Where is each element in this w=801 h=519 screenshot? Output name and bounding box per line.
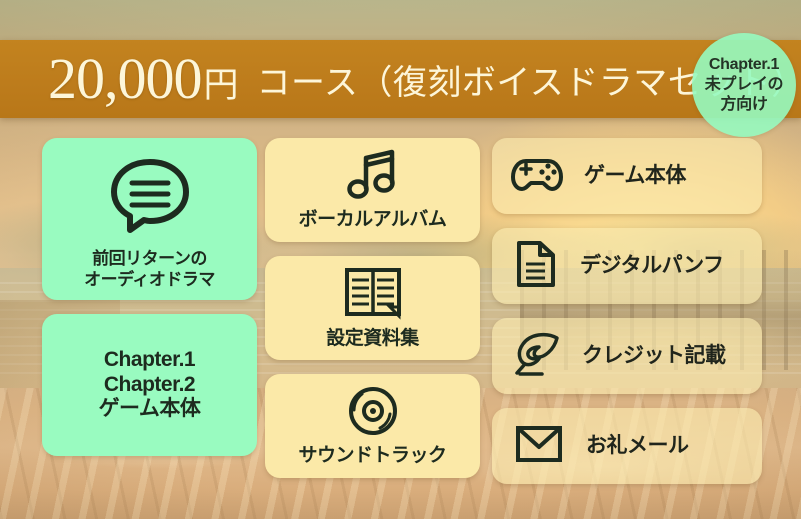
- reward-label: サウンドトラック: [298, 445, 446, 467]
- reward-label-line-2: オーディオドラマ: [84, 270, 215, 290]
- spacer: [42, 300, 257, 314]
- reward-label: ゲーム本体: [584, 164, 686, 189]
- reward-card-thank-you-mail[interactable]: お礼メール: [492, 408, 762, 484]
- compact-disc-icon: [345, 384, 401, 443]
- envelope-icon: [514, 423, 564, 470]
- badge-line-3: 方向け: [720, 95, 767, 115]
- reward-label: 設定資料集: [326, 328, 419, 350]
- reward-card-credits[interactable]: クレジット記載: [492, 318, 762, 394]
- reward-card-soundtrack[interactable]: サウンドトラック: [265, 374, 480, 478]
- reward-card-game-main[interactable]: ゲーム本体: [492, 138, 762, 214]
- tier-currency-unit: 円: [204, 68, 239, 103]
- reward-tier-graphic: 20,000 円 コース（復刻ボイスドラマセット） Chapter.1 未プレイ…: [0, 0, 801, 519]
- reward-label-line-2: Chapter.2: [99, 373, 201, 398]
- spacer: [492, 394, 762, 408]
- reward-label: クレジット記載: [582, 344, 726, 369]
- reward-column-right: ゲーム本体 デジタルパンフ: [492, 138, 762, 484]
- tier-title-bar: 20,000 円 コース（復刻ボイスドラマセット）: [0, 40, 801, 118]
- reward-label: ボーカルアルバム: [299, 209, 447, 231]
- document-icon: [514, 239, 558, 294]
- quill-pen-icon: [510, 330, 562, 383]
- spacer: [265, 360, 480, 374]
- reward-card-art-book[interactable]: 設定資料集: [265, 256, 480, 360]
- reward-card-game-chapters[interactable]: Chapter.1 Chapter.2 ゲーム本体: [42, 314, 257, 456]
- reward-label-line-1: Chapter.1: [99, 348, 201, 373]
- reward-column-left: 前回リターンの オーディオドラマ Chapter.1 Chapter.2 ゲーム…: [42, 138, 257, 456]
- tier-title: 20,000 円 コース（復刻ボイスドラマセット）: [48, 40, 801, 118]
- gamepad-icon: [510, 152, 564, 201]
- reward-card-audio-drama[interactable]: 前回リターンの オーディオドラマ: [42, 138, 257, 300]
- spacer: [492, 214, 762, 228]
- spacer: [492, 304, 762, 318]
- music-note-icon: [344, 148, 402, 207]
- speech-bubble-icon: [107, 154, 193, 245]
- audience-badge: Chapter.1 未プレイの 方向け: [692, 33, 796, 137]
- reward-label-line-3: ゲーム本体: [99, 397, 201, 422]
- badge-line-2: 未プレイの: [705, 75, 784, 95]
- tier-amount: 20,000: [48, 50, 202, 108]
- spacer: [265, 242, 480, 256]
- open-book-icon: [342, 265, 404, 326]
- badge-line-1: Chapter.1: [709, 55, 779, 75]
- reward-label-line-1: 前回リターンの: [84, 249, 215, 269]
- reward-column-middle: ボーカルアルバム 設定資料集: [265, 138, 480, 478]
- reward-card-vocal-album[interactable]: ボーカルアルバム: [265, 138, 480, 242]
- reward-label: デジタルパンフ: [580, 254, 724, 279]
- reward-label: お礼メール: [586, 434, 689, 459]
- reward-card-digital-pamphlet[interactable]: デジタルパンフ: [492, 228, 762, 304]
